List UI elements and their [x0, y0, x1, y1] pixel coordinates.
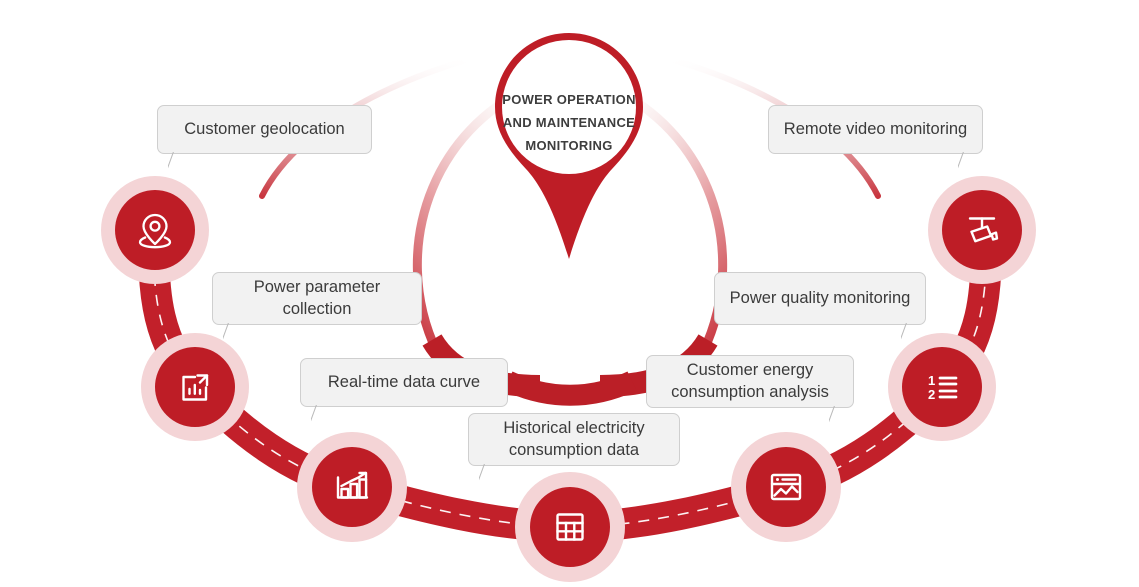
label-line-1: Historical electricity [503, 419, 644, 437]
label-line-1: Customer energy [687, 361, 814, 379]
growth-chart-icon [329, 464, 375, 510]
window-chart-icon [763, 464, 809, 510]
label-line-2: consumption data [509, 441, 639, 459]
label-text: Real-time data curve [328, 372, 480, 393]
label-line-2: consumption analysis [671, 383, 829, 401]
table-grid-icon [548, 505, 592, 549]
label-text: Remote video monitoring [784, 119, 967, 140]
label-text: Customer energy consumption analysis [671, 360, 829, 402]
node-energy-consumption[interactable] [746, 447, 826, 527]
inner-ribbon-bridge [508, 381, 632, 395]
label-line-2: collection [283, 300, 352, 318]
pin-title-line-2: AND MAINTENANCE [481, 112, 657, 135]
svg-text:1: 1 [928, 373, 935, 388]
center-pin: POWER OPERATION AND MAINTENANCE MONITORI… [481, 27, 657, 267]
label-customer-geolocation[interactable]: Customer geolocation [157, 105, 372, 154]
pin-title-line-1: POWER OPERATION [481, 89, 657, 112]
label-text: Power quality monitoring [730, 288, 911, 309]
node-remote-video[interactable] [942, 190, 1022, 270]
label-text: Historical electricity consumption data [503, 418, 644, 460]
pin-title: POWER OPERATION AND MAINTENANCE MONITORI… [481, 89, 657, 157]
label-real-time-data-curve[interactable]: Real-time data curve [300, 358, 508, 407]
cctv-camera-icon [959, 207, 1005, 253]
node-historical-data[interactable] [530, 487, 610, 567]
node-customer-geolocation[interactable] [115, 190, 195, 270]
numbered-list-icon: 1 2 [919, 364, 965, 410]
label-line-1: Power parameter [254, 278, 381, 296]
diagram-canvas: 1 2 POWER OPERATION AND MAINTENANCE MONI… [0, 0, 1139, 587]
chart-export-icon [173, 365, 217, 409]
location-pin-icon [133, 208, 177, 252]
pin-title-line-3: MONITORING [481, 135, 657, 158]
label-text: Power parameter collection [254, 277, 381, 319]
node-power-quality[interactable]: 1 2 [902, 347, 982, 427]
svg-text:2: 2 [928, 387, 935, 402]
label-historical-consumption-data[interactable]: Historical electricity consumption data [468, 413, 680, 466]
node-power-parameter[interactable] [155, 347, 235, 427]
node-real-time-curve[interactable] [312, 447, 392, 527]
label-power-quality-monitoring[interactable]: Power quality monitoring [714, 272, 926, 325]
label-text: Customer geolocation [184, 119, 345, 140]
label-customer-energy-consumption[interactable]: Customer energy consumption analysis [646, 355, 854, 408]
label-power-parameter-collection[interactable]: Power parameter collection [212, 272, 422, 325]
label-remote-video-monitoring[interactable]: Remote video monitoring [768, 105, 983, 154]
